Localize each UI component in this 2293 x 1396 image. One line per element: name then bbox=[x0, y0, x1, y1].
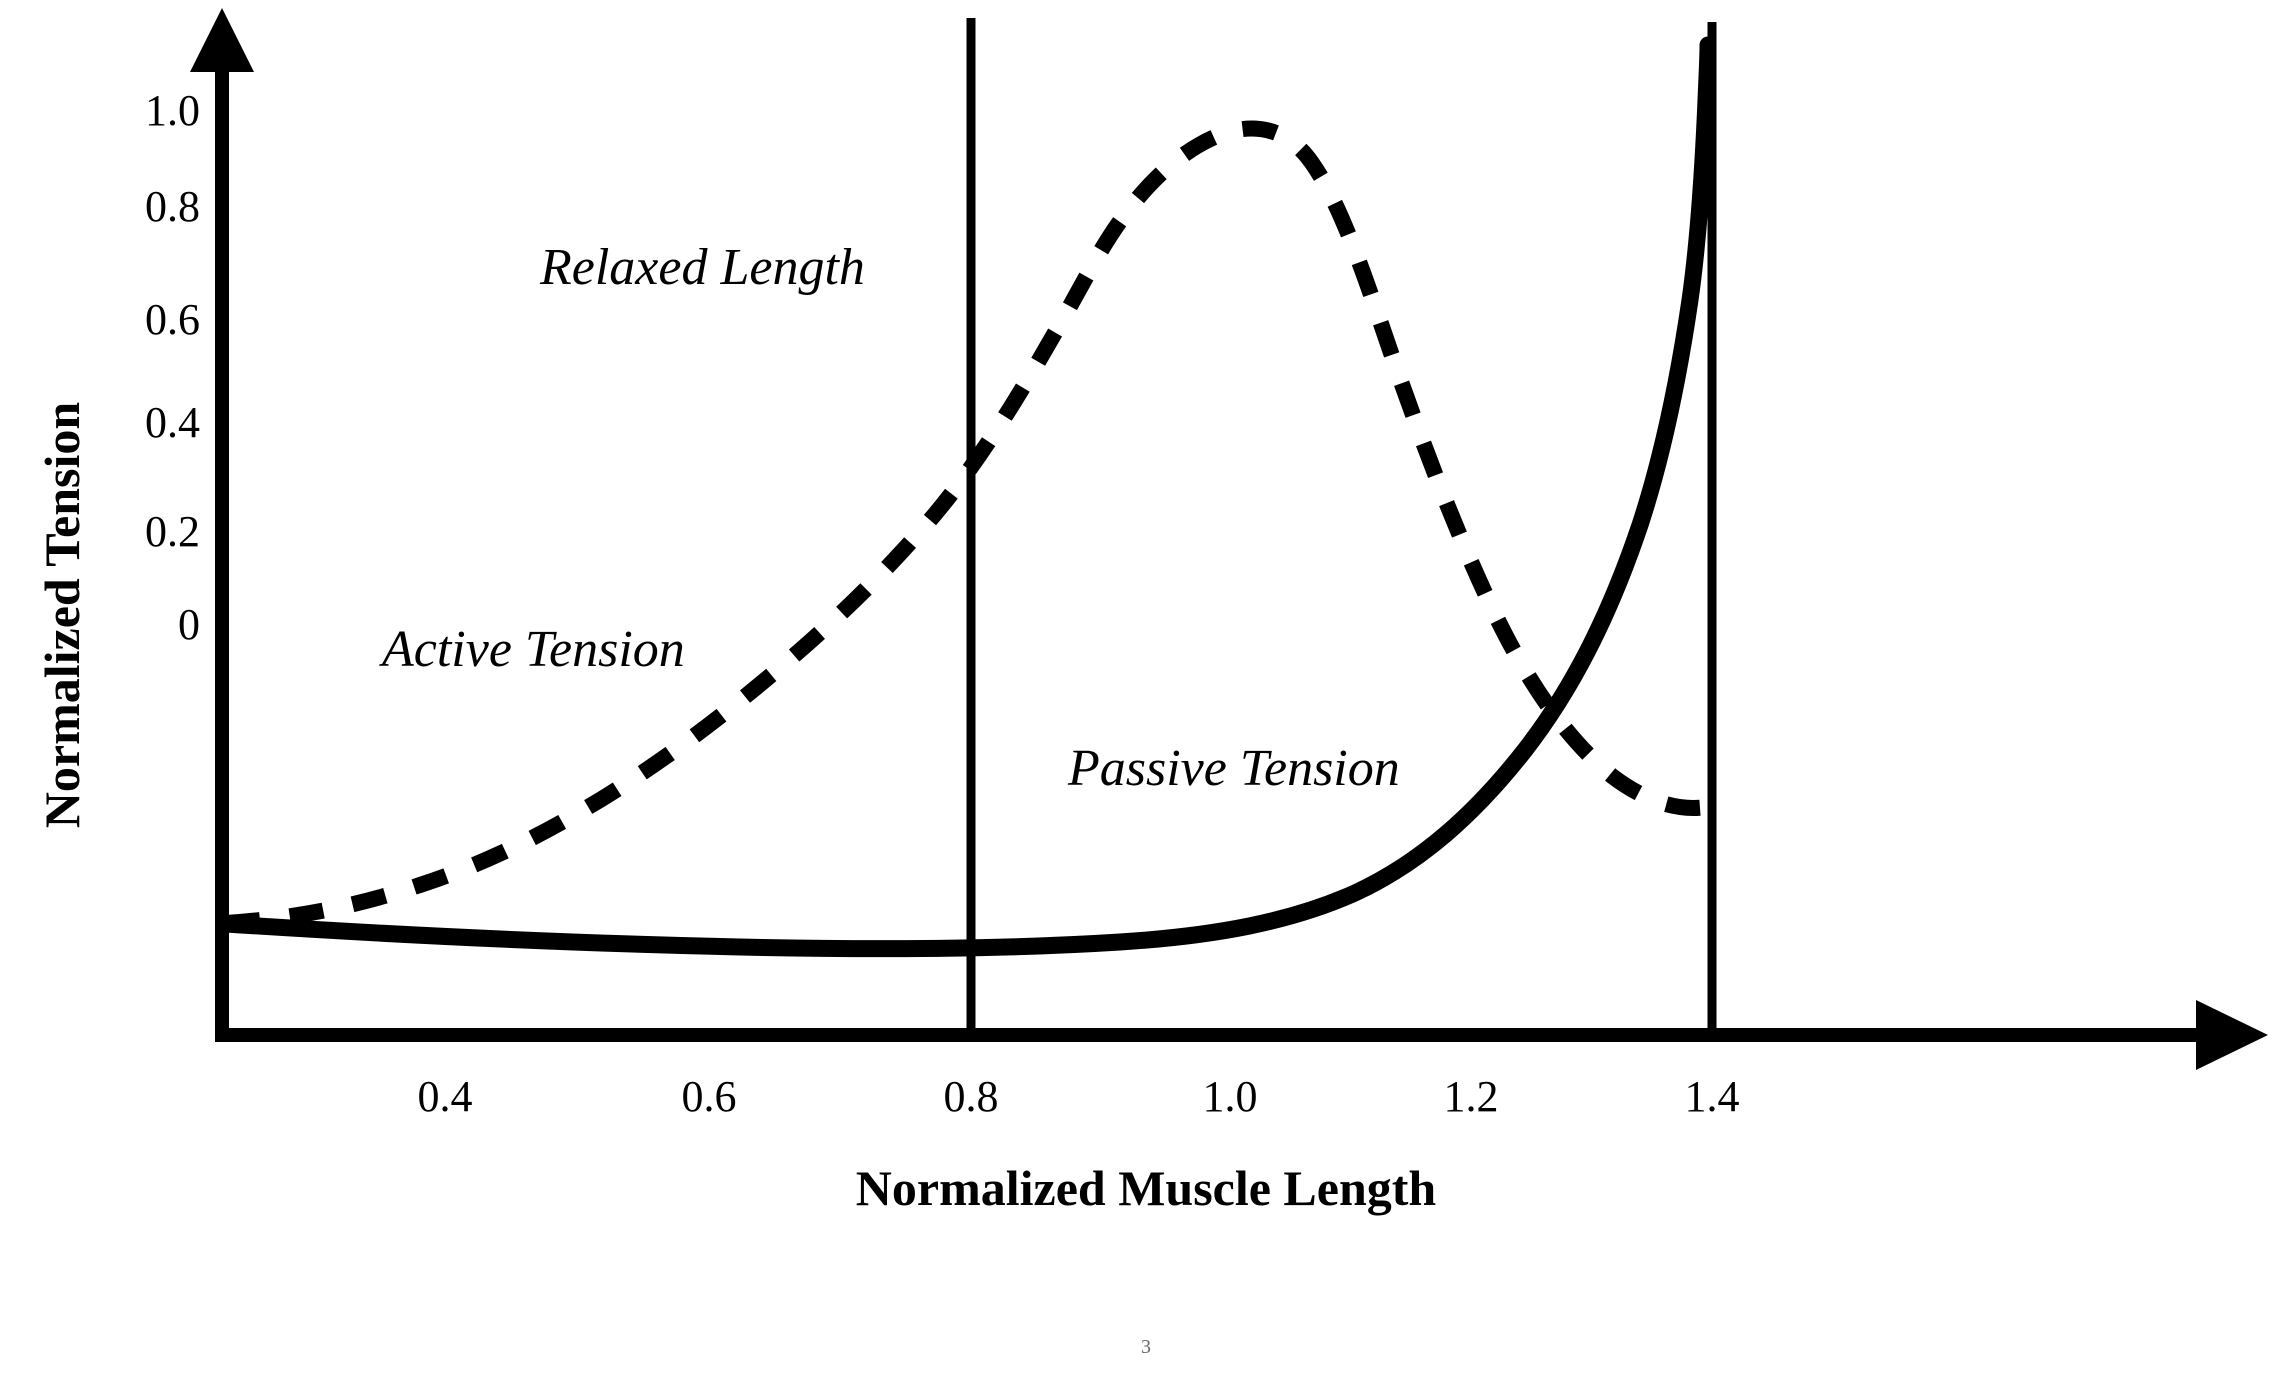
annotation-active-tension: Active Tension bbox=[382, 624, 685, 676]
y-tick-label-0: 0 bbox=[178, 603, 200, 647]
x-tick-label-0-4: 0.4 bbox=[418, 1075, 473, 1119]
x-tick-label-0-6: 0.6 bbox=[682, 1075, 737, 1119]
page-number: 3 bbox=[1141, 1337, 1151, 1357]
figure-root: 1.0 0.8 0.6 0.4 0.2 0 0.4 0.6 0.8 1.0 1.… bbox=[0, 0, 2293, 1396]
x-axis-title: Normalized Muscle Length bbox=[856, 1163, 1436, 1213]
y-tick-label-0-4: 0.4 bbox=[145, 401, 200, 445]
y-axis-title: Normalized Tension bbox=[37, 402, 87, 828]
annotation-relaxed-length: Relaxed Length bbox=[540, 242, 865, 294]
y-tick-label-0-6: 0.6 bbox=[145, 298, 200, 342]
y-tick-label-0-8: 0.8 bbox=[145, 185, 200, 229]
x-axis bbox=[215, 1000, 2268, 1070]
x-tick-label-0-8: 0.8 bbox=[944, 1075, 999, 1119]
arrow-right-icon bbox=[2196, 1000, 2268, 1070]
y-tick-label-1-0: 1.0 bbox=[145, 89, 200, 133]
annotation-passive-tension: Passive Tension bbox=[1068, 743, 1400, 795]
arrow-up-icon bbox=[190, 8, 254, 72]
y-tick-label-0-2: 0.2 bbox=[145, 510, 200, 554]
x-tick-label-1-2: 1.2 bbox=[1444, 1075, 1499, 1119]
x-tick-label-1-0: 1.0 bbox=[1203, 1075, 1258, 1119]
x-tick-label-1-4: 1.4 bbox=[1685, 1075, 1740, 1119]
